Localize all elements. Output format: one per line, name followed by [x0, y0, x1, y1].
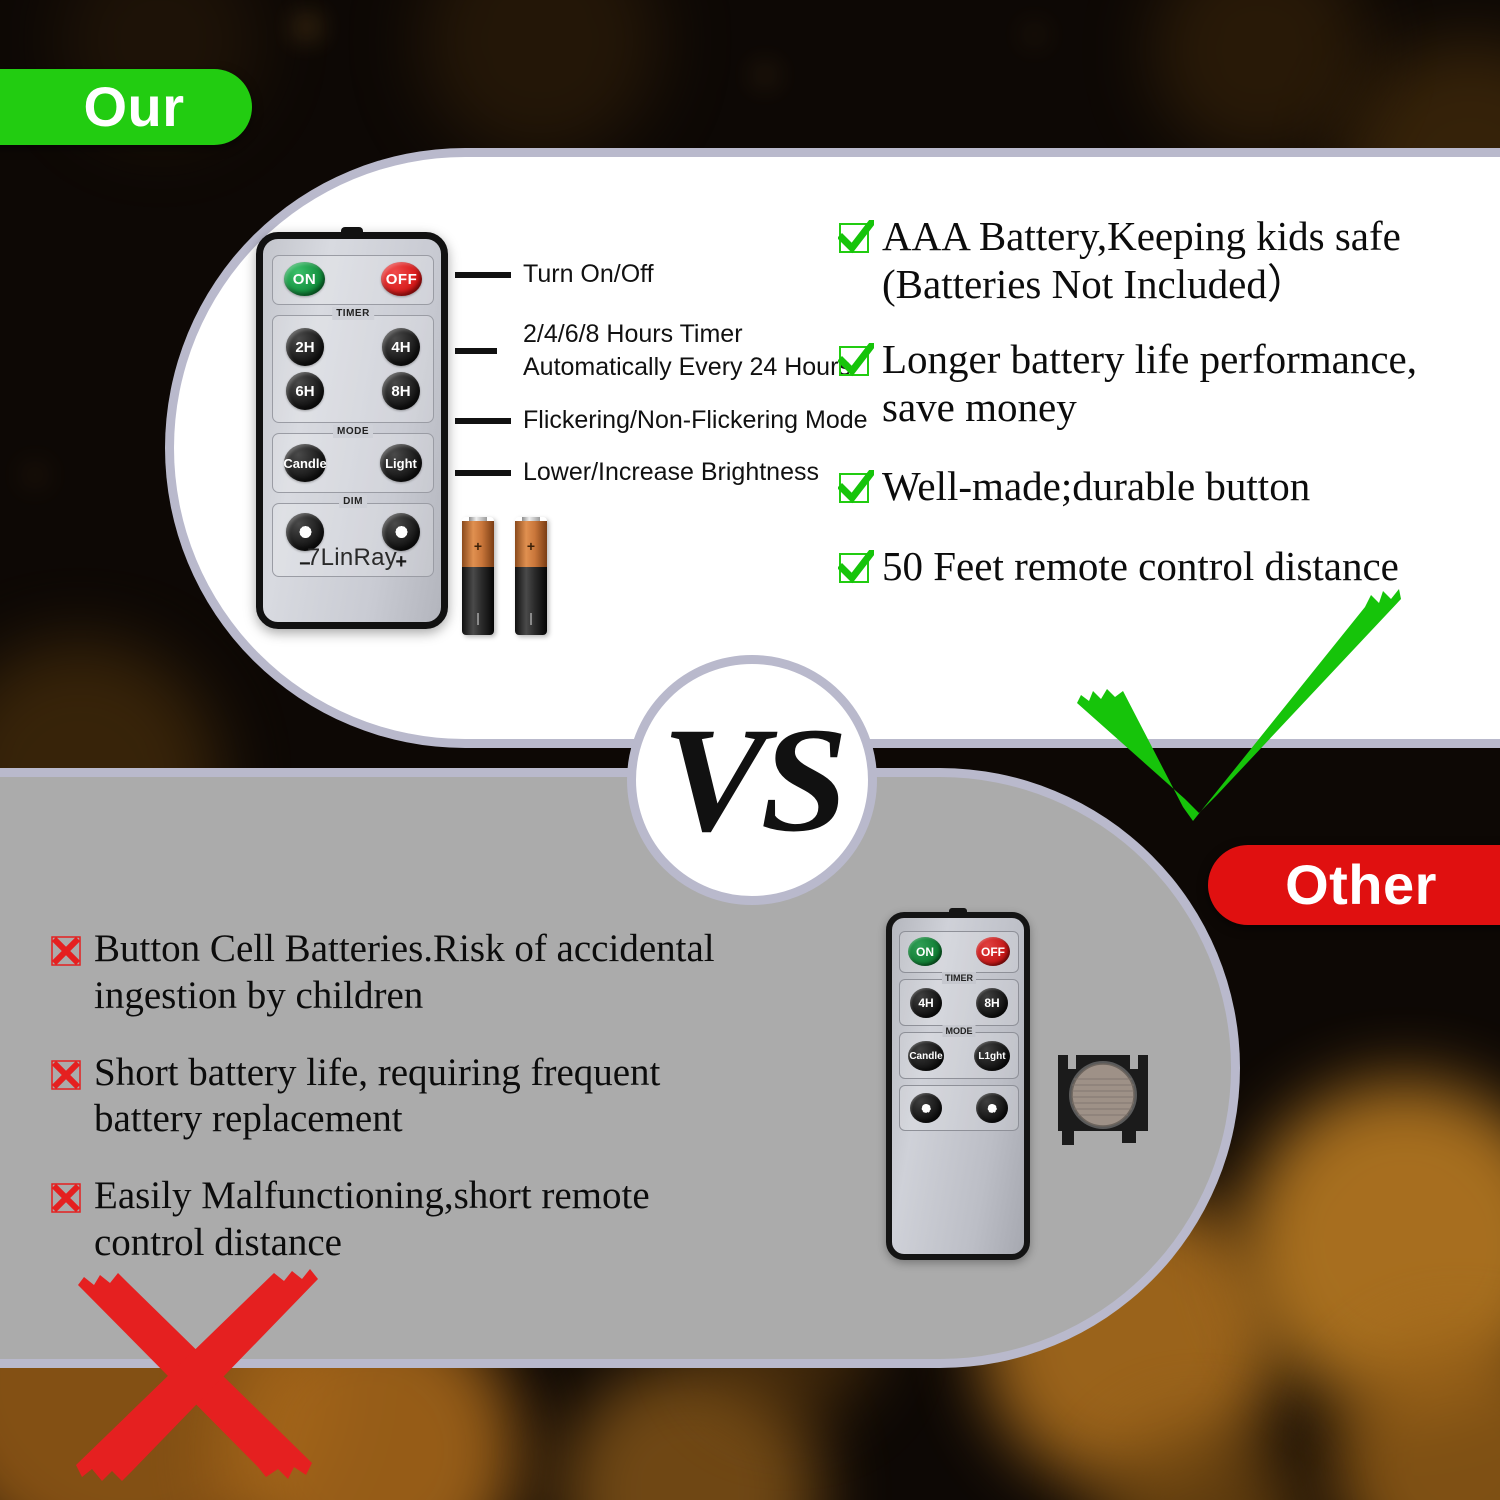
- timer-6h-button[interactable]: 6H: [286, 372, 324, 410]
- other-badge-label: Other: [1285, 857, 1447, 913]
- brightness-sun-icon: [388, 519, 414, 545]
- timer-4h-button[interactable]: 4H: [382, 328, 420, 366]
- other-dim-group: [899, 1085, 1019, 1131]
- checkbox-checked-icon: [838, 220, 874, 256]
- pro-text: 50 Feet remote control distance: [882, 542, 1399, 590]
- callout-text: Flickering/Non-Flickering Mode: [523, 404, 868, 437]
- brightness-sun-icon: [916, 1098, 936, 1118]
- aaa-battery-1: +: [462, 517, 494, 635]
- pro-text: AAA Battery,Keeping kids safe (Batteries…: [882, 212, 1401, 309]
- remote-ir-nub: [949, 908, 967, 916]
- other-power-group: ON OFF: [899, 931, 1019, 973]
- pro-item: Longer battery life performance, save mo…: [838, 335, 1500, 432]
- on-button-label: ON: [293, 271, 317, 288]
- callout-text: Lower/Increase Brightness: [523, 456, 819, 489]
- other-mode-label: MODE: [943, 1025, 976, 1037]
- off-button-label: OFF: [386, 271, 418, 288]
- con-item: Short battery life, requiring frequent b…: [50, 1050, 790, 1144]
- other-dim-down-button[interactable]: [910, 1093, 942, 1123]
- vs-badge: VS: [627, 655, 877, 905]
- power-button-group: ON OFF: [272, 255, 434, 305]
- pro-item: AAA Battery,Keeping kids safe (Batteries…: [838, 212, 1500, 309]
- pros-list: AAA Battery,Keeping kids safe (Batteries…: [838, 212, 1500, 616]
- dim-group-label: DIM: [339, 495, 367, 508]
- con-text: Easily Malfunctioning,short remote contr…: [94, 1173, 650, 1267]
- big-green-check-mark: [1065, 585, 1405, 835]
- callout-power: Turn On/Off: [455, 258, 654, 291]
- mode-group-label: MODE: [333, 425, 373, 438]
- con-item: Easily Malfunctioning,short remote contr…: [50, 1173, 790, 1267]
- brightness-sun-icon: [982, 1098, 1002, 1118]
- cons-list: Button Cell Batteries.Risk of accidental…: [50, 926, 790, 1291]
- timer-2h-button[interactable]: 2H: [286, 328, 324, 366]
- vs-label: VS: [662, 705, 842, 855]
- other-mode-light-button[interactable]: L1ght: [974, 1041, 1010, 1071]
- checkbox-checked-icon: [838, 470, 874, 506]
- callout-timer: 2/4/6/8 Hours Timer Automatically Every …: [455, 318, 851, 384]
- mode-button-group: MODE Candle Light: [272, 433, 434, 493]
- con-text: Short battery life, requiring frequent b…: [94, 1050, 660, 1144]
- callout-leader-line: [455, 418, 511, 424]
- other-off-button[interactable]: OFF: [976, 937, 1010, 966]
- timer-group-label: TIMER: [332, 307, 374, 320]
- callout-leader-line: [455, 272, 511, 278]
- checkbox-crossed-icon: [50, 1182, 82, 1214]
- checkbox-crossed-icon: [50, 1059, 82, 1091]
- callout-text: 2/4/6/8 Hours Timer Automatically Every …: [523, 318, 851, 384]
- callout-mode: Flickering/Non-Flickering Mode: [455, 404, 868, 437]
- timer-button-group: TIMER 2H 4H 6H 8H: [272, 315, 434, 423]
- con-text: Button Cell Batteries.Risk of accidental…: [94, 926, 715, 1020]
- other-mode-candle-button[interactable]: Candle: [908, 1041, 944, 1071]
- on-button[interactable]: ON: [284, 262, 325, 296]
- our-remote-control: ON OFF TIMER 2H 4H 6H 8H MODE: [256, 232, 448, 629]
- callout-dim: Lower/Increase Brightness: [455, 456, 819, 489]
- other-timer-4h-button[interactable]: 4H: [910, 988, 942, 1018]
- timer-8h-button[interactable]: 8H: [382, 372, 420, 410]
- pro-item: Well-made;durable button: [838, 462, 1500, 510]
- other-remote-control: ON OFF TIMER 4H 8H MODE Candle L1ght: [886, 912, 1030, 1260]
- brightness-sun-icon: [292, 519, 318, 545]
- pro-item: 50 Feet remote control distance: [838, 542, 1500, 590]
- callout-leader-line: [455, 470, 511, 476]
- mode-light-button[interactable]: Light: [380, 444, 422, 482]
- aaa-battery-2: +: [515, 517, 547, 635]
- pro-text: Longer battery life performance, save mo…: [882, 335, 1417, 432]
- other-badge: Other: [1208, 845, 1500, 925]
- other-timer-label: TIMER: [942, 972, 976, 984]
- our-badge-label: Our: [43, 79, 184, 135]
- remote-ir-nub: [341, 227, 363, 236]
- callout-text: Turn On/Off: [523, 258, 654, 291]
- other-timer-group: TIMER 4H 8H: [899, 979, 1019, 1026]
- coin-cell-battery-icon: [1050, 1045, 1156, 1157]
- pro-text: Well-made;durable button: [882, 462, 1310, 510]
- callout-leader-line: [455, 348, 497, 354]
- checkbox-crossed-icon: [50, 935, 82, 967]
- infographic-canvas: Our ON OFF TIMER 2H 4H 6H 8: [0, 0, 1500, 1500]
- other-mode-group: MODE Candle L1ght: [899, 1032, 1019, 1079]
- big-red-cross-mark: [60, 1255, 340, 1495]
- con-item: Button Cell Batteries.Risk of accidental…: [50, 926, 790, 1020]
- other-dim-up-button[interactable]: [976, 1093, 1008, 1123]
- our-badge: Our: [0, 69, 252, 145]
- mode-candle-button[interactable]: Candle: [284, 444, 326, 482]
- checkbox-checked-icon: [838, 343, 874, 379]
- checkbox-checked-icon: [838, 550, 874, 586]
- other-timer-8h-button[interactable]: 8H: [976, 988, 1008, 1018]
- off-button[interactable]: OFF: [381, 262, 422, 296]
- remote-brand-label: 7LinRay: [263, 544, 441, 572]
- other-on-button[interactable]: ON: [908, 937, 942, 966]
